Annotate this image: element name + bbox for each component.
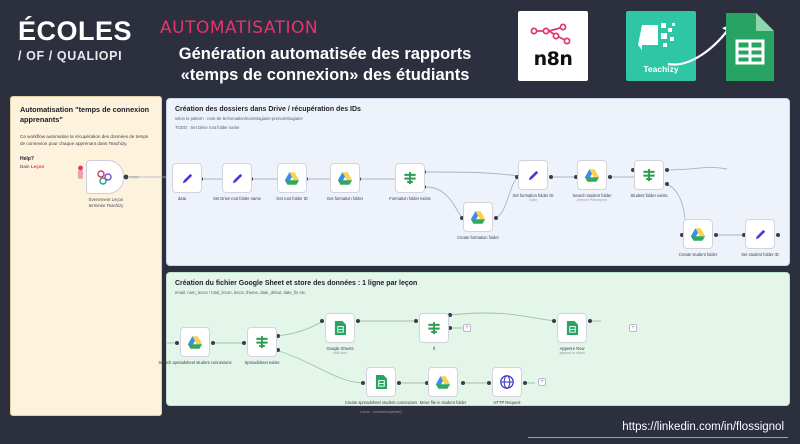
n8n-logo: n8n: [518, 11, 588, 81]
edit-pencil-icon: [230, 171, 245, 186]
node-student-folder-exists[interactable]: [634, 160, 664, 190]
footer-divider: [528, 437, 788, 438]
google-sheets-logo: [722, 11, 778, 83]
page-title-line2: «temps de connexion» des étudiants: [160, 65, 490, 86]
footer-linkedin-url[interactable]: https://linkedin.com/in/flossignol: [622, 421, 784, 433]
google-drive-icon: [337, 171, 353, 186]
panel-drive-title: Création des dossiers dans Drive / récup…: [175, 106, 781, 113]
node-formation-folder-exists[interactable]: [395, 163, 425, 193]
switch-filter-icon: [641, 168, 657, 183]
globe-http-icon: [499, 374, 515, 390]
panel-sheet-sub1: email, num_lecon / total_lecon, lecon, t…: [175, 290, 781, 296]
title-block: AUTOMATISATION Génération automatisée de…: [160, 18, 490, 86]
google-drive-icon: [470, 210, 486, 225]
node-if[interactable]: [419, 313, 449, 343]
help-link-text: Leçon: [31, 164, 45, 169]
switch-filter-icon: [426, 321, 442, 336]
brand-subtitle: / OF / QUALIOPI: [18, 49, 132, 63]
google-drive-icon: [284, 171, 300, 186]
node-data[interactable]: [172, 163, 202, 193]
edit-pencil-icon: [753, 227, 768, 242]
google-sheets-icon: [334, 320, 347, 336]
sticky-note-title: Automatisation "temps de connexion appre…: [20, 105, 152, 125]
google-drive-icon: [187, 335, 203, 350]
google-sheets-icon: [375, 374, 388, 390]
panel-sheet-title: Création du fichier Google Sheet et stor…: [175, 280, 781, 287]
node-search-student-folder[interactable]: [577, 160, 607, 190]
node-create-spreadsheet-student-connexions[interactable]: [366, 367, 396, 397]
node-create-formation-folder[interactable]: [463, 202, 493, 232]
node-get-formation-folder-label: Get formation folder: [308, 196, 382, 201]
node-get-formation-folder[interactable]: [330, 163, 360, 193]
panel-drive-sub1: selon le pattern : nom-de-la-formation/n…: [175, 116, 781, 122]
node-trigger-label: Evenement Leçon terminée Teachizy: [58, 197, 154, 209]
panel-sheet-header: Création du fichier Google Sheet et stor…: [167, 273, 789, 296]
node-create-student-folder[interactable]: [683, 219, 713, 249]
n8n-wordmark: n8n: [534, 48, 573, 70]
trigger-label-line2: terminée Teachizy: [58, 203, 154, 209]
page-title: Génération automatisée des rapports «tem…: [160, 44, 490, 86]
edit-pencil-icon: [180, 171, 195, 186]
add-node-button-3[interactable]: +: [538, 378, 546, 386]
google-drive-icon: [690, 227, 706, 242]
node-get-root-folder-id[interactable]: [277, 163, 307, 193]
panel-drive-sub2: TODO : Set Drive root folder name: [175, 125, 781, 131]
node-search-spreadsheet-label: Search spreadsheet student connexions: [158, 360, 232, 365]
node-formation-folder-exists-label: Formation folder exists: [373, 196, 447, 201]
node-create-formation-folder-label: Create formation folder: [441, 235, 515, 240]
node-if-label: If: [397, 346, 471, 351]
help-link-prefix: Dain: [20, 164, 31, 169]
svg-text:POST: POST: [130, 176, 139, 180]
node-search-spreadsheet-student-connexions[interactable]: [180, 327, 210, 357]
node-append-row-sub: append to sheet: [535, 351, 609, 356]
add-node-button-1[interactable]: +: [629, 324, 637, 332]
node-google-sheets[interactable]: [325, 313, 355, 343]
switch-filter-icon: [402, 171, 418, 186]
node-search-student-folder-sub: prenom Patronyme: [555, 198, 629, 203]
node-spreadsheet-exists-label: Spreadsheet exists: [225, 360, 299, 365]
google-drive-icon: [435, 375, 451, 390]
node-move-file-label: Move file in student folder: [406, 400, 480, 405]
add-node-button-2[interactable]: +: [463, 324, 471, 332]
n8n-mark-icon: [530, 23, 576, 47]
node-http-request-label: HTTP Request: [470, 400, 544, 405]
page-header: ÉCOLES / OF / QUALIOPI AUTOMATISATION Gé…: [0, 0, 800, 92]
panel-drive-header: Création des dossiers dans Drive / récup…: [167, 99, 789, 131]
page-title-line1: Génération automatisée des rapports: [160, 44, 490, 65]
node-move-file-in-student-folder[interactable]: [428, 367, 458, 397]
node-set-student-folder-id-label: Set student folder ID: [723, 252, 797, 257]
node-http-request[interactable]: [492, 367, 522, 397]
google-drive-icon: [584, 168, 600, 183]
node-google-sheets-sub: until user: [303, 351, 377, 356]
brand-title: ÉCOLES: [18, 16, 132, 46]
edit-pencil-icon: [526, 168, 541, 183]
node-set-drive-root-folder-name[interactable]: [222, 163, 252, 193]
node-student-folder-exists-label: Student folder exists: [612, 193, 686, 198]
node-set-student-folder-id[interactable]: [745, 219, 775, 249]
google-sheets-icon: [566, 320, 579, 336]
sticky-note-body: Ce workflow automatise la récupération d…: [20, 134, 152, 147]
node-append-row[interactable]: [557, 313, 587, 343]
node-create-spreadsheet-sub: Lecon - connexions(sheet): [344, 410, 418, 415]
brand-block: ÉCOLES / OF / QUALIOPI: [18, 16, 132, 63]
workflow-sticky-note: Automatisation "temps de connexion appre…: [10, 96, 162, 416]
node-spreadsheet-exists[interactable]: [247, 327, 277, 357]
page-kicker: AUTOMATISATION: [160, 18, 490, 39]
node-set-formation-folder-id[interactable]: [518, 160, 548, 190]
switch-filter-icon: [254, 335, 270, 350]
